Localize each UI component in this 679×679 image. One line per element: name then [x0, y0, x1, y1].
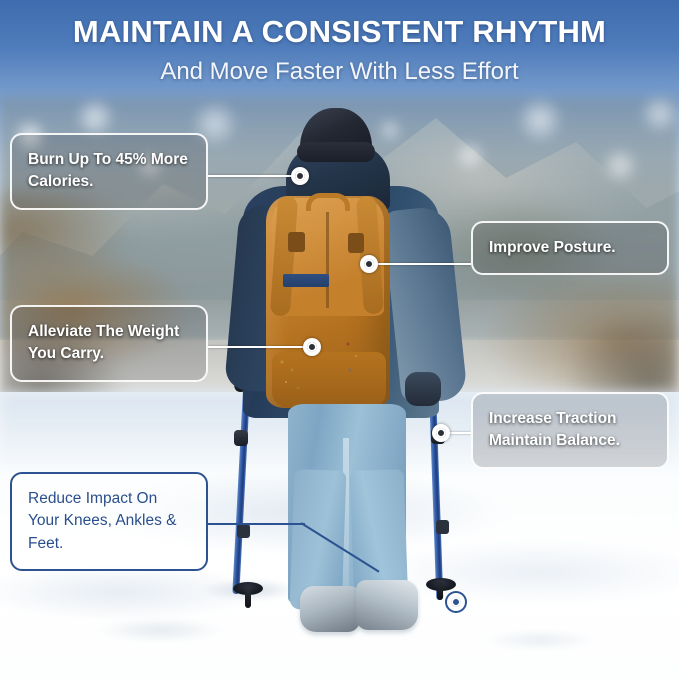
target-marker-posture — [360, 255, 378, 273]
backpack-keys — [276, 356, 306, 398]
pole-lock2-right — [436, 520, 449, 534]
backpack-seam — [326, 212, 329, 308]
header: MAINTAIN A CONSISTENT RHYTHM And Move Fa… — [0, 0, 679, 98]
backpack-cord — [342, 336, 368, 392]
callout-improve-posture[interactable]: Improve Posture. — [471, 221, 669, 275]
backpack-handle — [306, 193, 350, 211]
promo-graphic: MAINTAIN A CONSISTENT RHYTHM And Move Fa… — [0, 0, 679, 679]
beanie-hat — [300, 108, 372, 160]
page-subtitle: And Move Faster With Less Effort — [160, 58, 518, 86]
backpack-label-patch — [283, 274, 329, 287]
callout-knees-text: Reduce Impact On Your Knees, Ankles & Fe… — [28, 490, 177, 552]
callout-weight-text: Alleviate The Weight You Carry. — [28, 323, 179, 362]
callout-calories-text: Burn Up To 45% More Calories. — [28, 151, 188, 190]
connector-weight — [208, 346, 312, 348]
target-marker-traction — [432, 424, 450, 442]
target-marker-calories — [291, 167, 309, 185]
backpack-tag-left — [288, 232, 305, 252]
page-title: MAINTAIN A CONSISTENT RHYTHM — [73, 14, 606, 50]
callout-traction-text: Increase Traction Maintain Balance. — [489, 410, 620, 449]
callout-reduce-impact[interactable]: Reduce Impact On Your Knees, Ankles & Fe… — [10, 472, 208, 571]
pole-lock2-left — [237, 524, 250, 538]
pole-tip-right — [437, 580, 443, 600]
pole-tip-left — [245, 588, 251, 608]
connector-traction — [449, 432, 471, 434]
callout-posture-text: Improve Posture. — [489, 239, 616, 256]
callout-alleviate-weight[interactable]: Alleviate The Weight You Carry. — [10, 305, 208, 382]
boot-right — [356, 580, 418, 630]
callout-burn-calories[interactable]: Burn Up To 45% More Calories. — [10, 133, 208, 210]
target-marker-knees — [447, 593, 465, 611]
connector-calories — [208, 175, 300, 177]
connector-posture — [377, 263, 471, 265]
connector-knees-horizontal — [208, 523, 305, 525]
pole-lock-left — [234, 430, 248, 446]
hand-right — [405, 372, 441, 406]
callout-increase-traction[interactable]: Increase Traction Maintain Balance. — [471, 392, 669, 469]
backpack-tag-right — [348, 233, 364, 253]
target-marker-weight — [303, 338, 321, 356]
boot-left — [300, 586, 360, 632]
